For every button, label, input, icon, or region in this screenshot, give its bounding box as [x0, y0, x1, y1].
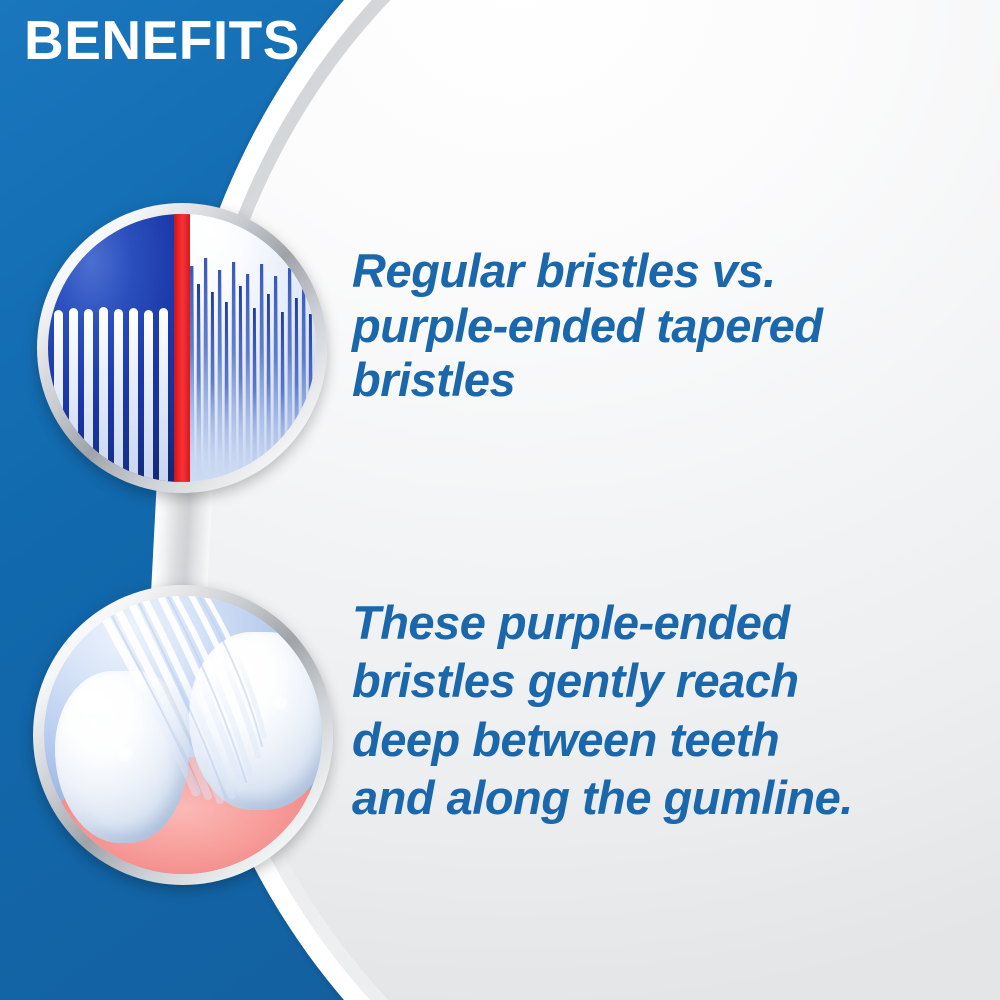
benefits-poster: BENEFITS — [0, 0, 1000, 1000]
benefit-text-bristle-comparison: Regular bristles vs. purple-ended tapere… — [352, 244, 952, 408]
lens-face — [48, 214, 316, 482]
tapered-bristle-strands — [44, 596, 322, 874]
benefit-2-line-2: bristles gently reach — [352, 652, 972, 710]
benefit-text-gumline-reach: These purple-ended bristles gently reach… — [352, 594, 972, 827]
lens-face — [44, 596, 322, 874]
benefit-2-line-3: deep between teeth — [352, 711, 972, 769]
benefit-1-line-1: Regular bristles vs. — [352, 244, 952, 299]
comparison-divider-line — [174, 214, 190, 482]
benefit-1-line-2: purple-ended tapered — [352, 299, 952, 354]
teeth-gumline-lens-icon — [33, 585, 333, 885]
benefit-1-line-3: bristles — [352, 353, 952, 408]
page-title: BENEFITS — [24, 13, 300, 68]
benefit-2-line-1: These purple-ended — [352, 594, 972, 652]
bristle-comparison-lens-icon — [37, 203, 327, 493]
benefit-2-line-4: and along the gumline. — [352, 769, 972, 827]
